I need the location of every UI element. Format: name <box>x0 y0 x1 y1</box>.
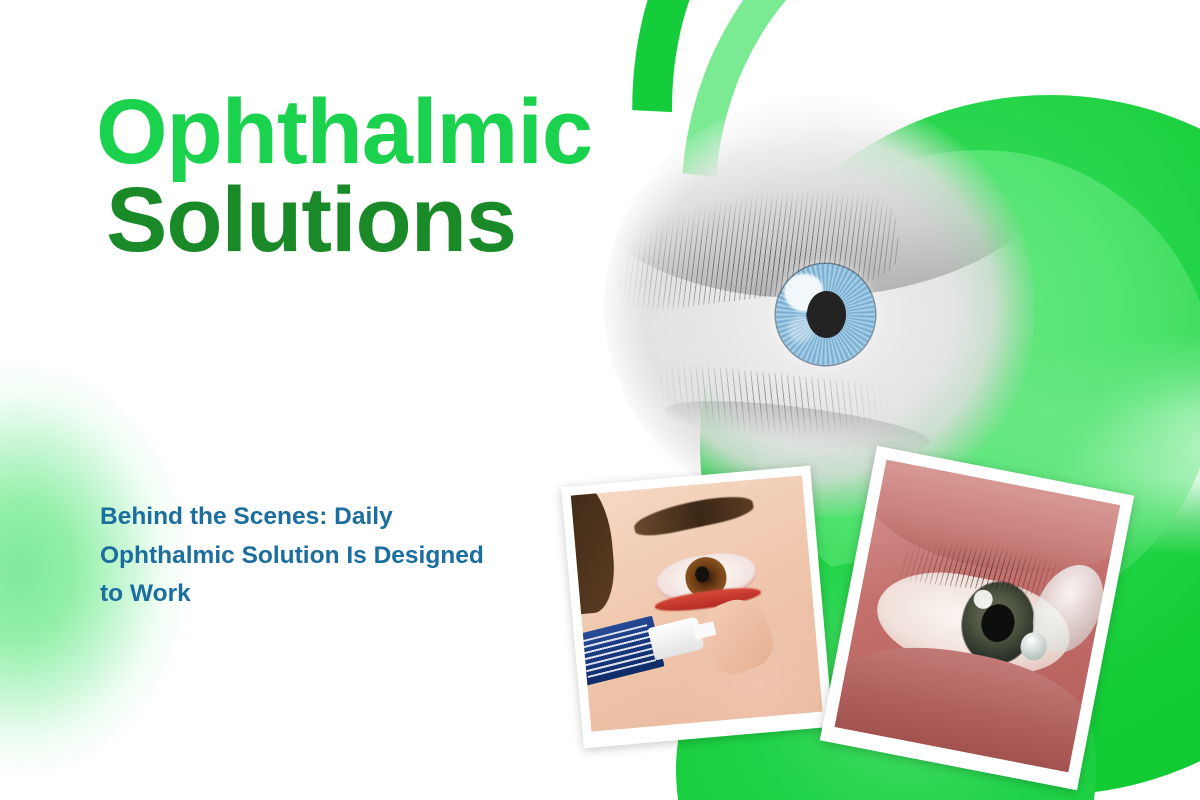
eye-pupil <box>807 291 847 337</box>
photo-red-eye-image <box>835 460 1121 772</box>
photo1-eyebrow <box>632 489 755 540</box>
photo-eye-drops-application <box>561 466 833 749</box>
page-title: Ophthalmic Solutions <box>96 88 592 265</box>
eye-iris <box>776 264 875 365</box>
subtitle-text: Behind the Scenes: Daily Ophthalmic Solu… <box>100 498 500 614</box>
ophthalmic-solutions-banner: Ophthalmic Solutions Behind the Scenes: … <box>0 0 1200 800</box>
photo1-bottle-label <box>578 624 655 677</box>
title-line-primary: Ophthalmic <box>96 88 592 176</box>
photo1-eye-drop-bottle <box>571 616 664 687</box>
photo1-hair <box>571 478 618 615</box>
hero-eye-photo <box>604 96 1034 516</box>
eye-lower-lashes <box>643 361 891 470</box>
title-line-secondary: Solutions <box>106 176 592 264</box>
photo-red-irritated-eye <box>820 446 1134 790</box>
photo-eye-drops-image <box>571 475 823 731</box>
